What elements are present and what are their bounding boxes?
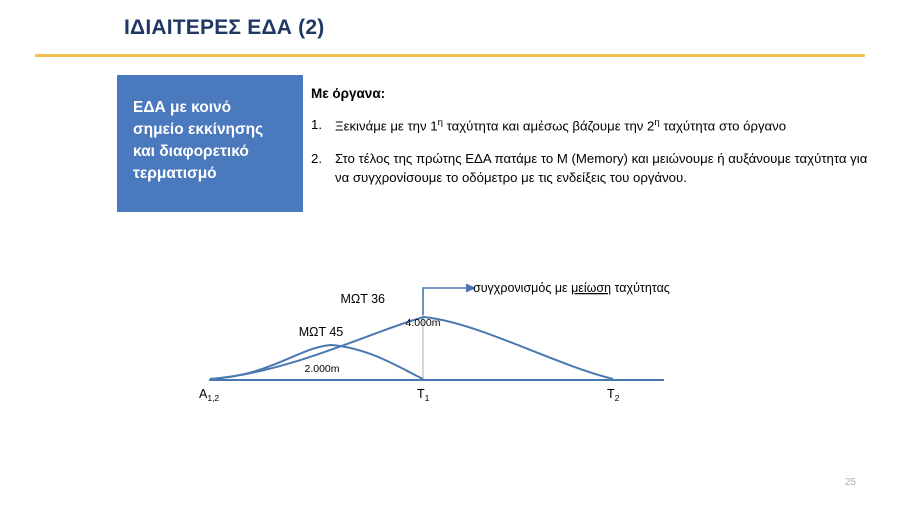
list-item-text-part-3: ταχύτητα στο όργανο (660, 118, 786, 133)
label-distance-4000: 4.000m (405, 317, 440, 329)
speed-profile-diagram: ΜΩΤ 36 ΜΩΤ 45 4.000m 2.000m Α1,2 Τ1 Τ2 σ… (180, 268, 720, 413)
list-item-marker: 1. (311, 116, 335, 136)
axis-label-a: Α1,2 (199, 387, 219, 403)
sync-annotation-underlined: μείωση (571, 281, 611, 295)
list-item-text: Στο τέλος της πρώτης ΕΔΑ πατάμε το Μ (Me… (335, 150, 881, 187)
list-item: 2. Στο τέλος της πρώτης ΕΔΑ πατάμε το Μ … (311, 150, 881, 187)
title-accent-rule (35, 54, 865, 57)
sync-annotation: συγχρονισμός με μείωση ταχύτητας (473, 281, 670, 295)
diagram-svg: ΜΩΤ 36 ΜΩΤ 45 4.000m 2.000m Α1,2 Τ1 Τ2 σ… (180, 268, 720, 413)
axis-label-t1: Τ1 (417, 387, 430, 403)
label-mot-36: ΜΩΤ 36 (340, 292, 385, 306)
sync-annotation-suffix: ταχύτητας (611, 281, 670, 295)
axis-label-t2-sub: 2 (615, 393, 620, 403)
body-content: Με όργανα: 1. Ξεκινάμε με την 1η ταχύτητ… (311, 86, 881, 202)
sync-arrow-line (423, 288, 472, 315)
callout-text: ΕΔΑ με κοινό σημείο εκκίνησης και διαφορ… (133, 97, 287, 185)
list-item-text-part-1: Ξεκινάμε με την 1 (335, 118, 438, 133)
axis-label-t1-sub: 1 (425, 393, 430, 403)
page-title: ΙΔΙΑΙΤΕΡΕΣ ΕΔΑ (2) (124, 16, 324, 40)
numbered-list: 1. Ξεκινάμε με την 1η ταχύτητα και αμέσω… (311, 116, 881, 188)
list-item-marker: 2. (311, 150, 335, 187)
page-number: 25 (845, 477, 856, 488)
axis-label-a-sub: 1,2 (207, 393, 219, 403)
body-heading: Με όργανα: (311, 86, 881, 101)
callout-box: ΕΔΑ με κοινό σημείο εκκίνησης και διαφορ… (117, 75, 303, 212)
label-mot-45: ΜΩΤ 45 (299, 325, 344, 339)
list-item: 1. Ξεκινάμε με την 1η ταχύτητα και αμέσω… (311, 116, 881, 136)
sync-annotation-prefix: συγχρονισμός με (473, 281, 571, 295)
axis-label-t2: Τ2 (607, 387, 620, 403)
list-item-text: Ξεκινάμε με την 1η ταχύτητα και αμέσως β… (335, 116, 881, 136)
list-item-text-part-2: ταχύτητα και αμέσως βάζουμε την 2 (443, 118, 654, 133)
label-distance-2000: 2.000m (304, 363, 339, 375)
